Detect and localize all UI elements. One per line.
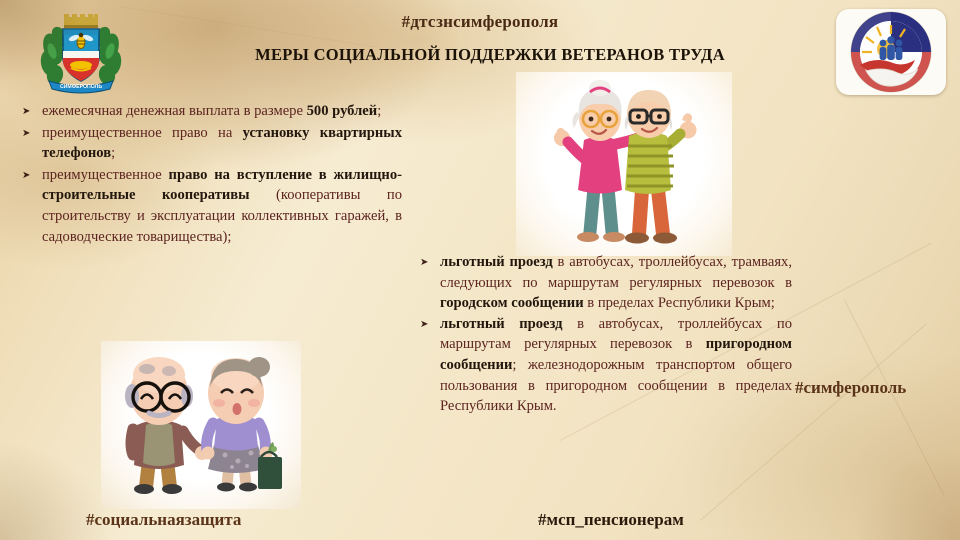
list-item: льготный проезд в автобусах, троллейбуса…: [420, 314, 792, 417]
emphasis-text: льготный проезд: [440, 254, 553, 270]
hashtag-socialnaya-zashita: #социальнаязащита: [86, 510, 241, 530]
benefits-list-right: льготный проезд в автобусах, троллейбуса…: [420, 252, 792, 417]
body-text: ;: [377, 103, 381, 119]
list-item: ежемесячная денежная выплата в размере 5…: [22, 101, 402, 122]
body-text: ежемесячная денежная выплата в размере: [42, 103, 307, 119]
list-item: преимущественное право на установку квар…: [22, 123, 402, 164]
body-text: в пределах Республики Крым;: [584, 295, 775, 311]
emphasis-text: 500 рублей: [307, 103, 378, 119]
illustration-elderly-couple-waving: [516, 72, 732, 256]
slide-canvas: СИМФЕРОПОЛЬ: [0, 0, 960, 540]
header-hashtag: #дтсзнсимферополя: [0, 12, 960, 32]
hashtag-simferopol: #симферополь: [795, 378, 906, 398]
page-title: МЕРЫ СОЦИАЛЬНОЙ ПОДДЕРЖКИ ВЕТЕРАНОВ ТРУД…: [130, 45, 850, 65]
body-text: преимущественное право на: [42, 125, 243, 141]
list-item: льготный проезд в автобусах, троллейбуса…: [420, 252, 792, 314]
emphasis-text: льготный проезд: [440, 316, 563, 332]
benefits-list-left: ежемесячная денежная выплата в размере 5…: [22, 101, 402, 248]
hashtag-msp-pensioneram: #мсп_пенсионерам: [538, 510, 684, 530]
list-item: преимущественное право на вступление в ж…: [22, 165, 402, 247]
body-text: ;: [111, 145, 115, 161]
illustration-elderly-couple-holding-hands: [101, 341, 301, 509]
emblem-ribbon-text: СИМФЕРОПОЛЬ: [60, 84, 102, 90]
body-text: преимущественное: [42, 167, 169, 183]
emphasis-text: городском сообщении: [440, 295, 584, 311]
